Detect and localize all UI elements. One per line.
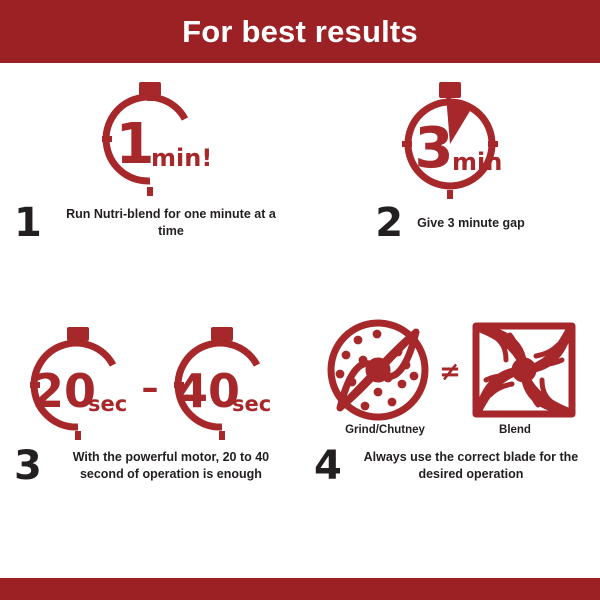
stopwatch-20sec: 20 sec xyxy=(30,327,127,440)
blade-separator-not-equal: ≠ xyxy=(439,357,461,387)
infographic-page: For best results 1 xyxy=(0,0,600,600)
stopwatch-1min-icon: 1 min! xyxy=(75,77,225,201)
tip-2-icon-area: 3 min xyxy=(300,75,600,203)
tip-3-icon-unit-from: sec xyxy=(88,392,127,416)
tip-card-2: 3 min 2 Give 3 minute gap xyxy=(300,75,600,280)
tip-1-icon-unit: min! xyxy=(151,144,212,172)
tip-3-icon-separator: – xyxy=(142,368,159,408)
tip-1-caption: 1 Run Nutri-blend for one minute at a ti… xyxy=(0,203,300,243)
blade-comparison-icon: ≠ xyxy=(320,318,580,422)
blend-blade-icon xyxy=(476,326,572,414)
tip-4-caption: 4 Always use the correct blade for the d… xyxy=(300,446,600,486)
tip-2-caption: 2 Give 3 minute gap xyxy=(300,203,600,243)
tip-card-1: 1 min! 1 Run Nutri-blend for one minute … xyxy=(0,75,300,280)
tips-grid: 1 min! 1 Run Nutri-blend for one minute … xyxy=(0,63,600,578)
tip-3-text: With the powerful motor, 20 to 40 second… xyxy=(56,449,286,483)
tip-3-caption: 3 With the powerful motor, 20 to 40 seco… xyxy=(0,446,300,486)
grind-chutney-blade-icon xyxy=(331,323,425,417)
tip-3-icon-area: 20 sec – 40 s xyxy=(0,318,300,446)
stopwatch-crown xyxy=(439,82,461,98)
tip-2-text: Give 3 minute gap xyxy=(417,215,525,232)
header-band: For best results xyxy=(0,0,600,63)
tip-3-step-number: 3 xyxy=(14,446,42,486)
tip-card-4: ≠ xyxy=(300,318,600,533)
tip-card-3: 20 sec – 40 s xyxy=(0,318,300,533)
grind-chutney-label: Grind/Chutney xyxy=(333,424,437,436)
tip-3-icon-value-to: 40 xyxy=(176,364,240,418)
blade-label-row: Grind/Chutney Blend xyxy=(320,424,580,436)
tip-3-icon-unit-to: sec xyxy=(232,392,271,416)
tip-4-text: Always use the correct blade for the des… xyxy=(356,449,586,483)
tip-1-icon-value: 1 xyxy=(116,112,155,177)
tip-2-icon-value: 3 xyxy=(415,116,454,181)
footer-band xyxy=(0,578,600,600)
blend-label: Blend xyxy=(463,424,567,436)
tip-2-step-number: 2 xyxy=(375,203,403,243)
stopwatch-range-icon: 20 sec – 40 s xyxy=(10,323,290,441)
stopwatch-3min-icon: 3 min xyxy=(380,77,520,201)
tip-4-step-number: 4 xyxy=(314,446,342,486)
page-title: For best results xyxy=(182,16,418,47)
stopwatch-40sec: 40 sec xyxy=(174,327,271,440)
tip-3-icon-value-from: 20 xyxy=(32,364,96,418)
tip-1-step-number: 1 xyxy=(14,203,42,243)
stopwatch-crown xyxy=(139,82,161,96)
tip-1-text: Run Nutri-blend for one minute at a time xyxy=(56,206,286,240)
tip-4-icon-area: ≠ xyxy=(300,318,600,446)
tip-1-icon-area: 1 min! xyxy=(0,75,300,203)
tip-2-icon-unit: min xyxy=(452,148,502,176)
